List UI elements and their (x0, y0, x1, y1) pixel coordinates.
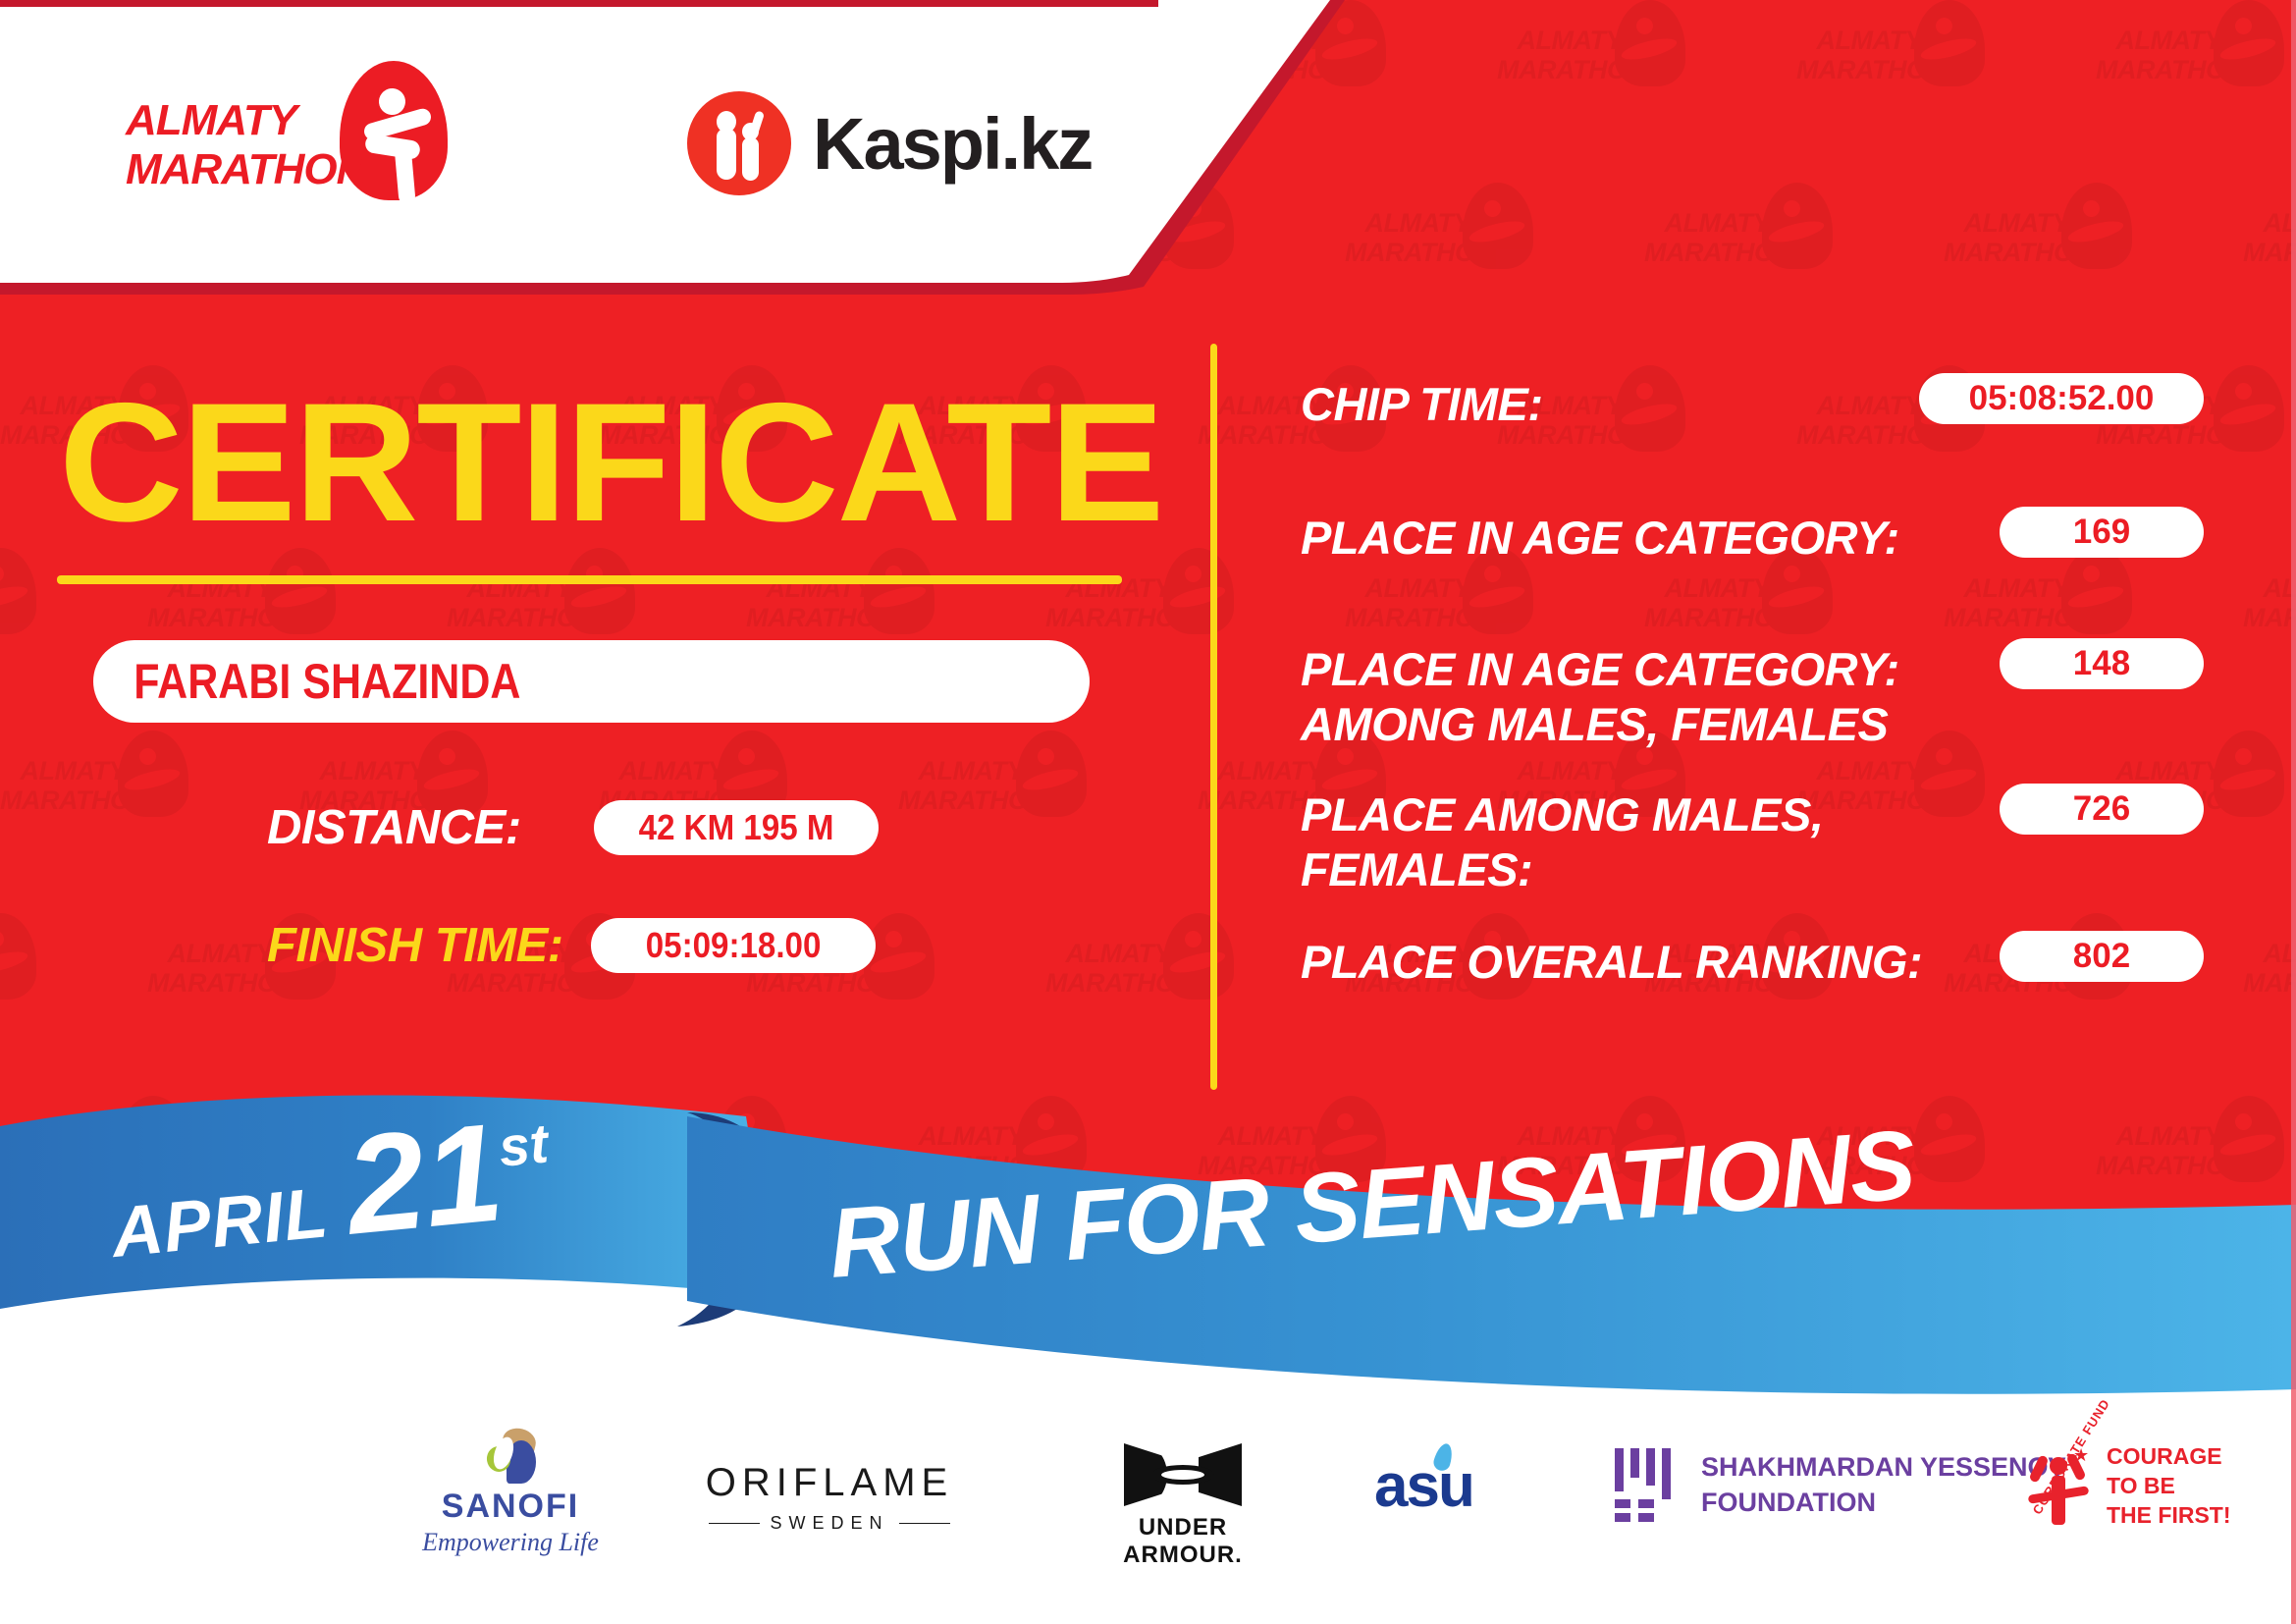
place-age-category-value-pill: 169 (2000, 507, 2204, 558)
place-age-category-label: PLACE IN AGE CATEGORY: (1301, 507, 1929, 566)
ribbon-day: 21 (342, 1110, 507, 1249)
result-row-place-overall: PLACE OVERALL RANKING: 802 (1301, 931, 2204, 1009)
kaspi-family-icon (687, 91, 791, 195)
sponsor-sanofi: SANOFI Empowering Life (398, 1429, 623, 1557)
watermark-tile: ALMATYMARATHON (2243, 548, 2296, 666)
athlete-name-value: FARABI SHAZINDA (93, 653, 520, 710)
finish-time-value-pill: 05:09:18.00 (591, 918, 876, 973)
watermark-text: ALMATYMARATHON (898, 756, 1024, 815)
sponsor-under-armour-label: UNDER ARMOUR. (1080, 1514, 1286, 1569)
right-border-accent (2291, 0, 2296, 1624)
sponsor-sanofi-tagline: Empowering Life (398, 1528, 623, 1557)
watermark-text: ALMATYMARATHON (147, 939, 273, 998)
watermark-drop-icon (0, 548, 36, 634)
result-row-place-age-category-gender: PLACE IN AGE CATEGORY: AMONG MALES, FEMA… (1301, 638, 2204, 752)
place-age-category-gender-value-pill: 148 (2000, 638, 2204, 689)
almaty-marathon-wordmark: ALMATY MARATHON (126, 96, 383, 194)
place-age-category-gender-label: PLACE IN AGE CATEGORY: AMONG MALES, FEMA… (1301, 638, 1929, 752)
distance-label: DISTANCE: (267, 800, 521, 855)
sponsor-alsu-label: asu (1374, 1451, 1473, 1521)
courage-label-line1: COURAGE (2107, 1441, 2231, 1471)
sponsor-oriflame-label: ORIFLAME (687, 1461, 972, 1505)
result-row-place-age-category: PLACE IN AGE CATEGORY: 169 (1301, 507, 2204, 585)
place-age-category-gender-value: 148 (2073, 644, 2130, 683)
watermark-tile: ALMATYMARATHON (2243, 913, 2296, 1031)
sponsor-yessenov-label: SHAKHMARDAN YESSENOV FOUNDATION (1701, 1449, 2066, 1520)
sponsor-yessenov-foundation: SHAKHMARDAN YESSENOV FOUNDATION (1615, 1448, 2066, 1521)
watermark-text: ALMATYMARATHON (0, 756, 126, 815)
finish-time-label: FINISH TIME: (267, 918, 563, 973)
logo-line-1: ALMATY (126, 96, 383, 145)
place-among-gender-value: 726 (2073, 789, 2130, 829)
chip-time-value-pill: 05:08:52.00 (1919, 373, 2204, 424)
results-panel: CHIP TIME: 05:08:52.00 PLACE IN AGE CATE… (1301, 373, 2204, 1039)
oriflame-rule-right (899, 1523, 950, 1525)
page-title: CERTIFICATE (59, 378, 1162, 547)
kaspi-wordmark: Kaspi.kz (813, 102, 1092, 186)
sponsor-oriflame: ORIFLAME SWEDEN (687, 1461, 972, 1534)
place-age-category-gender-label-line2: AMONG MALES, FEMALES (1301, 697, 1929, 752)
courage-label-line2: TO BE (2107, 1471, 2231, 1500)
vertical-divider (1210, 344, 1217, 1090)
place-among-gender-label-line1: PLACE AMONG MALES, (1301, 787, 1929, 842)
chip-time-value: 05:08:52.00 (1969, 379, 2155, 418)
chip-time-label-line1: CHIP TIME: (1301, 377, 1850, 432)
watermark-tile: ALMATYMARATHON (898, 731, 1095, 848)
yessenov-label-line1: SHAKHMARDAN YESSENOV (1701, 1449, 2066, 1485)
sponsor-under-armour: UNDER ARMOUR. (1080, 1443, 1286, 1569)
watermark-tile: ALMATYMARATHON (0, 913, 44, 1031)
yessenov-label-line2: FOUNDATION (1701, 1485, 2066, 1520)
courage-figure-icon: CORPORATE FUND ★ (2022, 1443, 2095, 1528)
distance-value-pill: 42 KM 195 M (594, 800, 879, 855)
place-age-category-label-line1: PLACE IN AGE CATEGORY: (1301, 511, 1929, 566)
result-row-chip-time: CHIP TIME: 05:08:52.00 (1301, 373, 2204, 452)
athlete-name-field: FARABI SHAZINDA (93, 640, 1090, 723)
courage-label-line3: THE FIRST! (2107, 1500, 2231, 1530)
logo-line-2: MARATHON (126, 145, 383, 194)
watermark-text: ALMATYMARATHON (1045, 939, 1171, 998)
sponsor-courage-label: COURAGE TO BE THE FIRST! (2107, 1441, 2231, 1530)
result-row-place-among-gender: PLACE AMONG MALES, FEMALES: 726 (1301, 784, 2204, 897)
sponsor-courage-fund: CORPORATE FUND ★ COURAGE TO BE THE FIRST… (2022, 1441, 2231, 1530)
sponsor-alsu: asu (1374, 1451, 1473, 1521)
place-among-gender-value-pill: 726 (2000, 784, 2204, 835)
place-overall-label: PLACE OVERALL RANKING: (1301, 931, 1988, 990)
oriflame-rule-left (709, 1523, 760, 1525)
almaty-marathon-logo: ALMATY MARATHON (126, 61, 450, 208)
sponsor-oriflame-tagline: SWEDEN (770, 1513, 888, 1534)
watermark-tile: ALMATYMARATHON (0, 548, 44, 666)
certificate-canvas: ALMATYMARATHONALMATYMARATHONALMATYMARATH… (0, 0, 2296, 1624)
place-among-gender-label-line2: FEMALES: (1301, 842, 1929, 897)
place-age-category-gender-label-line1: PLACE IN AGE CATEGORY: (1301, 642, 1929, 697)
distance-row: DISTANCE: 42 KM 195 M (267, 800, 879, 855)
place-among-gender-label: PLACE AMONG MALES, FEMALES: (1301, 784, 1929, 897)
watermark-tile: ALMATYMARATHON (0, 731, 196, 848)
chip-time-label: CHIP TIME: (1301, 373, 1850, 432)
finish-time-row: FINISH TIME: 05:09:18.00 (267, 918, 876, 973)
watermark-text: ALMATYMARATHON (2243, 573, 2296, 632)
kaspi-logo: Kaspi.kz (687, 90, 1092, 196)
ribbon-day-suffix: st (496, 1110, 551, 1178)
place-age-category-value: 169 (2073, 513, 2130, 552)
finish-time-value: 05:09:18.00 (645, 925, 821, 966)
sponsor-sanofi-label: SANOFI (398, 1488, 623, 1526)
place-overall-label-line1: PLACE OVERALL RANKING: (1301, 935, 1988, 990)
distance-value: 42 KM 195 M (638, 807, 833, 848)
yessenov-bars-icon (1615, 1448, 1680, 1521)
watermark-drop-icon (0, 913, 36, 1000)
place-overall-value-pill: 802 (2000, 931, 2204, 982)
sanofi-icon (481, 1429, 540, 1484)
title-underline (57, 575, 1122, 584)
watermark-text: ALMATYMARATHON (2243, 939, 2296, 998)
place-overall-value: 802 (2073, 937, 2130, 976)
under-armour-icon (1124, 1443, 1242, 1506)
